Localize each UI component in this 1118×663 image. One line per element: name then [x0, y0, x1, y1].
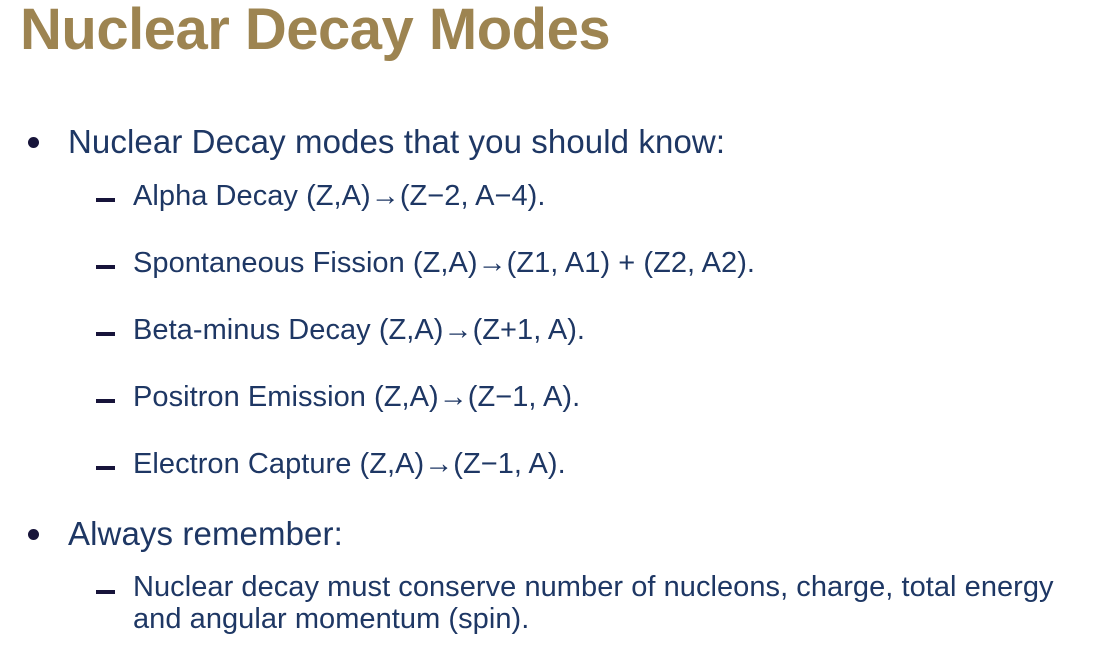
list-item: Beta-minus Decay (Z,A)→(Z+1, A). [0, 313, 1118, 380]
bullet-text: Beta-minus Decay (Z,A)→(Z+1, A). [133, 313, 1100, 349]
bullet-text: Electron Capture (Z,A)→(Z−1, A). [133, 447, 1100, 483]
bullet-dot-icon [28, 137, 39, 148]
list-item: Alpha Decay (Z,A)→(Z−2, A−4). [0, 179, 1118, 246]
bullet-dash-icon [96, 198, 115, 202]
bullet-dash-icon [96, 399, 115, 403]
bullet-dash-icon [96, 466, 115, 470]
bullet-dash-icon [96, 265, 115, 269]
list-item: Positron Emission (Z,A)→(Z−1, A). [0, 380, 1118, 447]
bullet-list: Nuclear Decay modes that you should know… [0, 122, 1118, 636]
page-title: Nuclear Decay Modes [20, 0, 610, 62]
list-item: Spontaneous Fission (Z,A)→(Z1, A1) + (Z2… [0, 246, 1118, 313]
bullet-dot-icon [28, 529, 39, 540]
list-item: Nuclear Decay modes that you should know… [0, 122, 1118, 179]
bullet-text: Alpha Decay (Z,A)→(Z−2, A−4). [133, 179, 1100, 215]
bullet-text: Spontaneous Fission (Z,A)→(Z1, A1) + (Z2… [133, 246, 1100, 282]
slide-canvas: Nuclear Decay Modes Nuclear Decay modes … [0, 0, 1118, 663]
bullet-dash-icon [96, 590, 115, 594]
bullet-text: Nuclear Decay modes that you should know… [68, 122, 1098, 162]
bullet-dash-icon [96, 332, 115, 336]
list-item: Always remember: [0, 514, 1118, 571]
list-item: Nuclear decay must conserve number of nu… [0, 571, 1118, 636]
bullet-text: Nuclear decay must conserve number of nu… [133, 571, 1100, 636]
bullet-text: Positron Emission (Z,A)→(Z−1, A). [133, 380, 1100, 416]
bullet-text: Always remember: [68, 514, 1098, 554]
list-item: Electron Capture (Z,A)→(Z−1, A). [0, 447, 1118, 514]
